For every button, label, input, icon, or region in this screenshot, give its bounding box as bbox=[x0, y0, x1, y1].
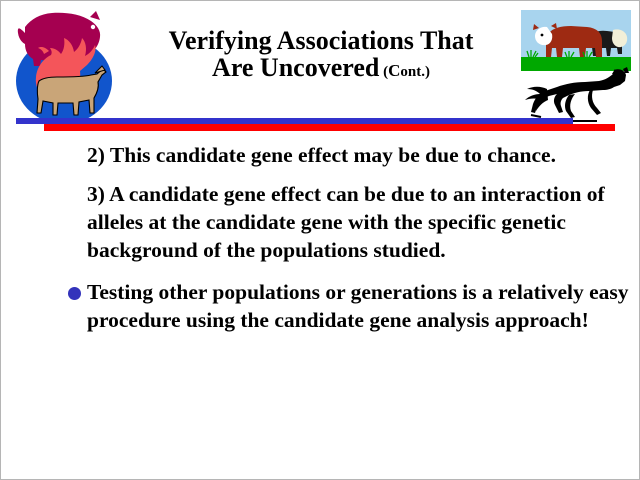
body-paragraph-3-text: 3) A candidate gene effect can be due to… bbox=[87, 180, 633, 264]
body-bullet-item: Testing other populations or generations… bbox=[63, 278, 633, 334]
cont-rest: ont.) bbox=[400, 64, 430, 80]
livestock-logo bbox=[7, 3, 122, 125]
body-paragraph-3: 3) A candidate gene effect can be due to… bbox=[63, 180, 633, 264]
body-paragraph-2: 2) This candidate gene effect may be due… bbox=[63, 141, 633, 169]
cont-capital: C bbox=[388, 61, 400, 80]
horse-body bbox=[525, 67, 629, 118]
presentation-slide: Verifying Associations That Are Uncovere… bbox=[0, 0, 640, 480]
galloping-horse-silhouette bbox=[519, 67, 631, 125]
cattle-pasture-photo bbox=[521, 10, 631, 71]
body-paragraph-2-text: 2) This candidate gene effect may be due… bbox=[87, 141, 633, 169]
bullet-dot-icon bbox=[68, 287, 81, 300]
slide-body: 2) This candidate gene effect may be due… bbox=[63, 141, 633, 334]
title-block: Verifying Associations That Are Uncovere… bbox=[121, 27, 521, 81]
cattle-pasture-photo-svg bbox=[521, 10, 631, 71]
body-bullet-text: Testing other populations or generations… bbox=[87, 278, 633, 334]
slide-title-line-2-main: Are Uncovered bbox=[212, 53, 379, 82]
header-rule-red bbox=[44, 124, 615, 131]
paragraph-spacer-1 bbox=[63, 169, 633, 180]
paragraph-spacer-2 bbox=[63, 264, 633, 278]
livestock-logo-svg bbox=[7, 3, 122, 125]
slide-title-line-2: Are Uncovered (Cont.) bbox=[121, 54, 521, 81]
slide-title-continuation: (Cont.) bbox=[379, 64, 430, 80]
slide-title-line-1: Verifying Associations That bbox=[121, 27, 521, 54]
galloping-horse-svg bbox=[519, 67, 631, 125]
slide-header: Verifying Associations That Are Uncovere… bbox=[1, 1, 639, 133]
